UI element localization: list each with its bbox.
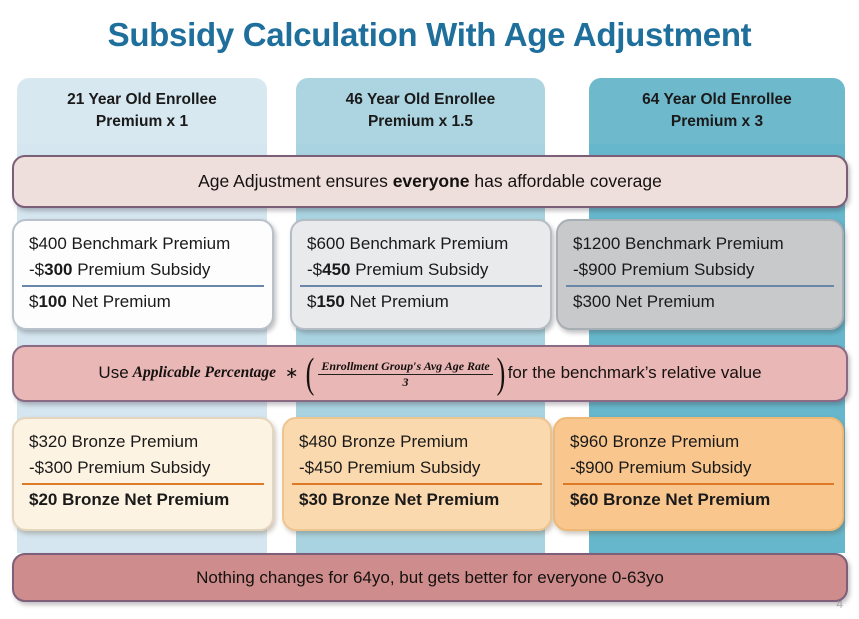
benchmark-net-label-21yo: Net Premium [67, 292, 171, 311]
page-title: Subsidy Calculation With Age Adjustment [0, 16, 859, 54]
benchmark-subsidy-line-21yo: -$300 Premium Subsidy [14, 257, 272, 283]
bronze-premium-line-64yo: $960 Bronze Premium [555, 429, 842, 455]
column-header-46yo-line2: Premium x 1.5 [368, 111, 473, 133]
benchmark-subsidy-amount-bold-46yo: 450 [322, 260, 350, 279]
formula-tail: for the benchmark’s relative value [508, 363, 762, 383]
formula-fraction: Enrollment Group′s Avg Age Rate 3 [317, 360, 493, 389]
benchmark-net-amount-bold-46yo: 150 [316, 292, 344, 311]
benchmark-subsidy-amount-46yo: -$ [307, 260, 322, 279]
benchmark-subsidy-amount-bold-21yo: 300 [44, 260, 72, 279]
benchmark-premium-line-21yo: $400 Benchmark Premium [14, 231, 272, 257]
slide-canvas: Subsidy Calculation With Age Adjustment … [0, 0, 859, 619]
column-header-64yo-line1: 64 Year Old Enrollee [642, 89, 792, 111]
benchmark-premium-amount-46yo: $600 [307, 234, 345, 253]
bronze-divider-64yo [563, 483, 834, 486]
bronze-card-64yo: $960 Bronze Premium -$900 Premium Subsid… [553, 417, 844, 531]
closing-banner-text: Nothing changes for 64yo, but gets bette… [196, 568, 664, 588]
benchmark-premium-amount-21yo: $400 [29, 234, 67, 253]
bronze-premium-line-46yo: $480 Bronze Premium [284, 429, 550, 455]
benchmark-premium-label-21yo: Benchmark Premium [67, 234, 230, 253]
bronze-net-text-46yo: $30 Bronze Net Premium [299, 490, 499, 509]
formula-lead: Use [98, 363, 128, 383]
benchmark-net-line-64yo: $300 Net Premium [558, 289, 842, 315]
column-header-64yo-line2: Premium x 3 [671, 111, 763, 133]
benchmark-premium-amount-64yo: $1200 [573, 234, 620, 253]
bronze-subsidy-line-64yo: -$900 Premium Subsidy [555, 455, 842, 481]
benchmark-divider-21yo [22, 285, 264, 288]
bronze-divider-21yo [22, 483, 264, 486]
bronze-net-text-21yo: $20 Bronze Net Premium [29, 490, 229, 509]
benchmark-premium-line-64yo: $1200 Benchmark Premium [558, 231, 842, 257]
column-header-21yo-line2: Premium x 1 [96, 111, 188, 133]
column-header-46yo-line1: 46 Year Old Enrollee [346, 89, 496, 111]
benchmark-net-label-64yo: Net Premium [611, 292, 715, 311]
column-header-64yo: 64 Year Old Enrollee Premium x 3 [589, 78, 845, 144]
formula-banner: Use Applicable Percentage ∗ ( Enrollment… [12, 345, 848, 402]
age-adjustment-text: Age Adjustment ensures everyone has affo… [198, 171, 662, 192]
benchmark-subsidy-label-21yo: Premium Subsidy [73, 260, 211, 279]
bronze-net-line-46yo: $30 Bronze Net Premium [284, 487, 550, 513]
formula-numerator: Enrollment Group′s Avg Age Rate [318, 360, 492, 374]
benchmark-card-64yo: $1200 Benchmark Premium -$900 Premium Su… [556, 219, 844, 330]
age-adjustment-emphasis: everyone [393, 171, 470, 191]
formula-operator: ∗ [280, 363, 303, 383]
bronze-card-21yo: $320 Bronze Premium -$300 Premium Subsid… [12, 417, 274, 531]
bronze-premium-line-21yo: $320 Bronze Premium [14, 429, 272, 455]
benchmark-subsidy-label-46yo: Premium Subsidy [351, 260, 489, 279]
benchmark-premium-line-46yo: $600 Benchmark Premium [292, 231, 550, 257]
column-header-21yo-line1: 21 Year Old Enrollee [67, 89, 217, 111]
age-adjustment-suffix: has affordable coverage [470, 171, 662, 191]
benchmark-subsidy-amount-64yo: -$900 [573, 260, 616, 279]
age-adjustment-banner: Age Adjustment ensures everyone has affo… [12, 155, 848, 208]
benchmark-premium-label-46yo: Benchmark Premium [345, 234, 508, 253]
bronze-divider-46yo [292, 483, 542, 486]
bronze-card-46yo: $480 Bronze Premium -$450 Premium Subsid… [282, 417, 552, 531]
benchmark-divider-46yo [300, 285, 542, 288]
formula-italic-term: Applicable Percentage [129, 364, 280, 382]
benchmark-net-line-46yo: $150 Net Premium [292, 289, 550, 315]
closing-banner: Nothing changes for 64yo, but gets bette… [12, 553, 848, 602]
benchmark-net-label-46yo: Net Premium [345, 292, 449, 311]
formula-expression: Use Applicable Percentage ∗ ( Enrollment… [98, 359, 761, 388]
benchmark-subsidy-line-46yo: -$450 Premium Subsidy [292, 257, 550, 283]
column-header-46yo: 46 Year Old Enrollee Premium x 1.5 [296, 78, 545, 144]
benchmark-premium-label-64yo: Benchmark Premium [620, 234, 783, 253]
benchmark-net-amount-bold-21yo: 100 [38, 292, 66, 311]
age-adjustment-prefix: Age Adjustment ensures [198, 171, 393, 191]
benchmark-subsidy-amount-21yo: -$ [29, 260, 44, 279]
benchmark-net-line-21yo: $100 Net Premium [14, 289, 272, 315]
bronze-net-line-64yo: $60 Bronze Net Premium [555, 487, 842, 513]
benchmark-divider-64yo [566, 285, 834, 288]
formula-denominator: 3 [403, 375, 409, 389]
benchmark-card-46yo: $600 Benchmark Premium -$450 Premium Sub… [290, 219, 552, 330]
column-header-21yo: 21 Year Old Enrollee Premium x 1 [17, 78, 267, 144]
bronze-net-line-21yo: $20 Bronze Net Premium [14, 487, 272, 513]
benchmark-card-21yo: $400 Benchmark Premium -$300 Premium Sub… [12, 219, 274, 330]
bronze-net-text-64yo: $60 Bronze Net Premium [570, 490, 770, 509]
benchmark-subsidy-label-64yo: Premium Subsidy [616, 260, 754, 279]
benchmark-subsidy-line-64yo: -$900 Premium Subsidy [558, 257, 842, 283]
bronze-subsidy-line-21yo: -$300 Premium Subsidy [14, 455, 272, 481]
bronze-subsidy-line-46yo: -$450 Premium Subsidy [284, 455, 550, 481]
benchmark-net-amount-64yo: $300 [573, 292, 611, 311]
